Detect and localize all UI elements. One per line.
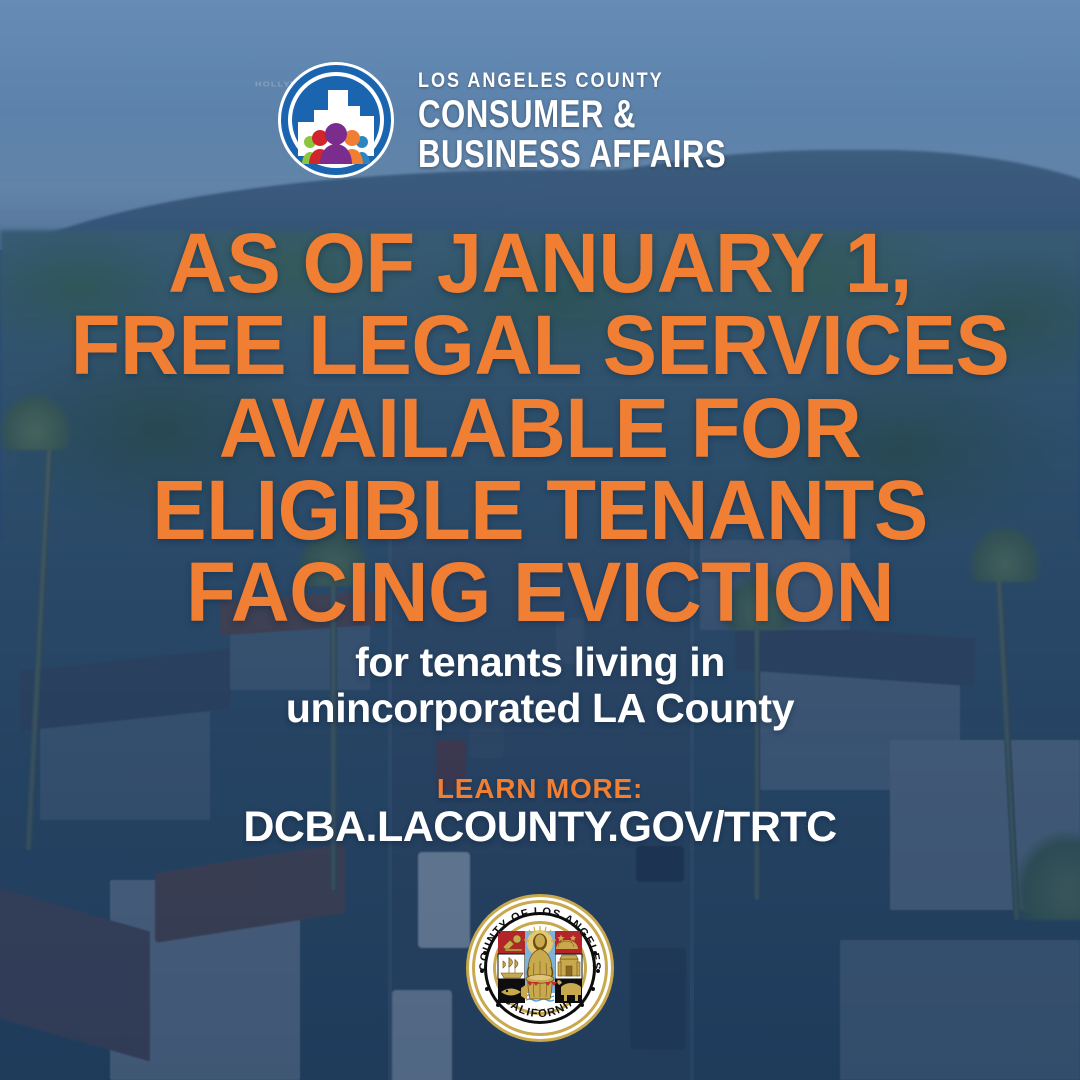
- county-seal: COUNTY OF LOS ANGELES CALIFORNIA: [465, 893, 615, 1043]
- headline: AS OF JANUARY 1, FREE LEGAL SERVICES AVA…: [0, 222, 1080, 634]
- logo-line-1: CONSUMER &: [418, 95, 726, 134]
- dcba-logo: LOS ANGELES COUNTY CONSUMER & BUSINESS A…: [0, 60, 1080, 180]
- county-of-los-angeles-seal-icon: COUNTY OF LOS ANGELES CALIFORNIA: [465, 893, 615, 1043]
- learn-more-label: LEARN MORE:: [0, 773, 1080, 805]
- logo-line-2: BUSINESS AFFAIRS: [418, 135, 726, 174]
- subheadline: for tenants living in unincorporated LA …: [0, 640, 1080, 732]
- logo-eyebrow: LOS ANGELES COUNTY: [418, 70, 749, 91]
- headline-line-3: AVAILABLE FOR: [16, 387, 1064, 469]
- dcba-skyline-people-logo-icon: [276, 60, 396, 180]
- subheadline-line-2: unincorporated LA County: [0, 686, 1080, 732]
- headline-line-1: AS OF JANUARY 1,: [16, 222, 1064, 304]
- headline-line-5: FACING EVICTION: [16, 551, 1064, 633]
- poster-canvas: HOLLYWOOD: [0, 0, 1080, 1080]
- logo-wordmark: LOS ANGELES COUNTY CONSUMER & BUSINESS A…: [418, 66, 803, 174]
- subheadline-line-1: for tenants living in: [0, 640, 1080, 686]
- headline-line-2: FREE LEGAL SERVICES: [16, 304, 1064, 386]
- headline-line-4: ELIGIBLE TENANTS: [16, 469, 1064, 551]
- website-url[interactable]: DCBA.LACOUNTY.GOV/TRTC: [0, 803, 1080, 852]
